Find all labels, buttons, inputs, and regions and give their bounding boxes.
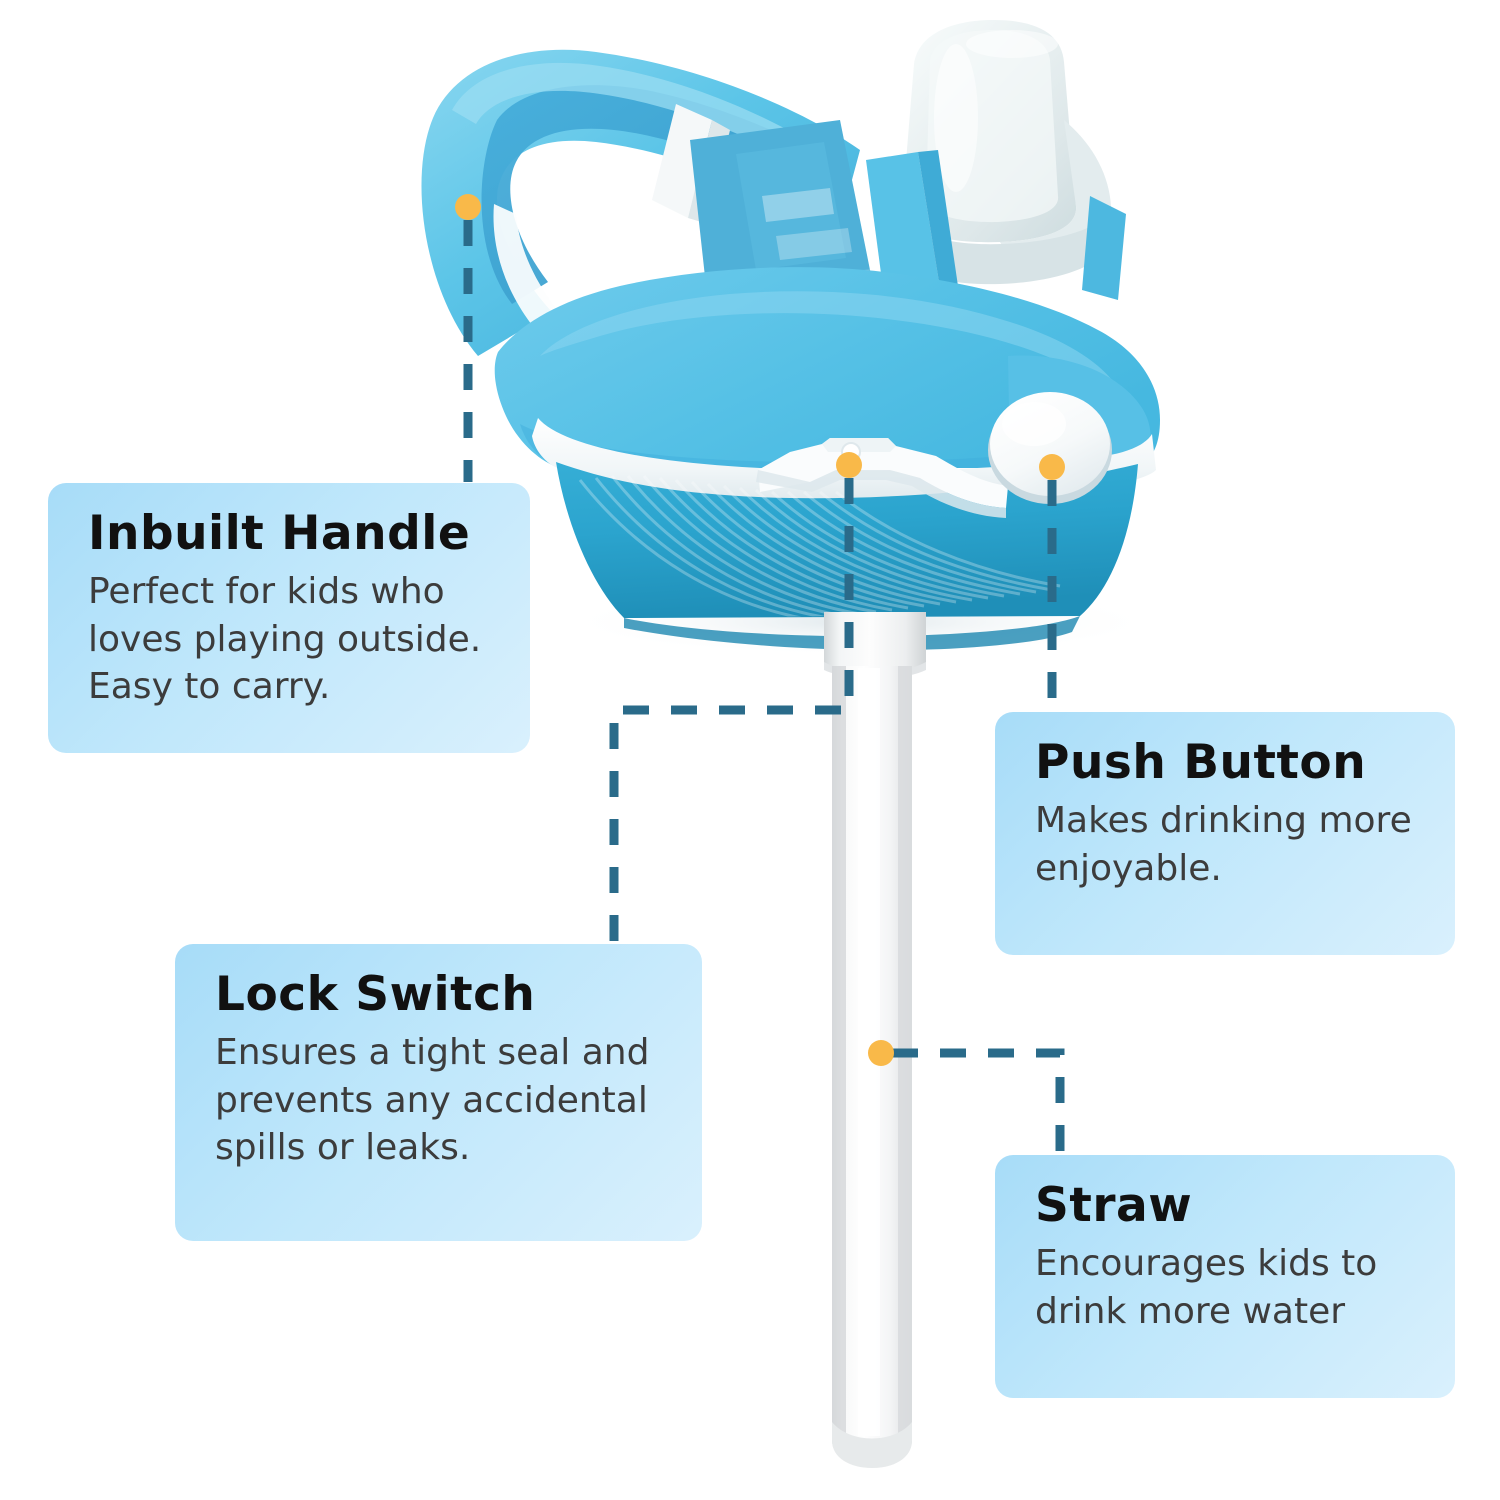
hotspot-dot-straw[interactable] [868,1040,894,1066]
callout-straw: Straw Encourages kids to drink more wate… [995,1155,1455,1398]
infographic-canvas: Inbuilt Handle Perfect for kids who love… [0,0,1500,1500]
callout-push-button: Push Button Makes drinking more enjoyabl… [995,712,1455,955]
callout-title-inbuilt-handle: Inbuilt Handle [88,509,500,558]
callout-inbuilt-handle: Inbuilt Handle Perfect for kids who love… [48,483,530,753]
hotspot-dot-inbuilt-handle[interactable] [455,194,481,220]
callout-title-push-button: Push Button [1035,738,1425,787]
callout-title-straw: Straw [1035,1181,1425,1230]
connector-straw [892,1053,1060,1156]
callout-body-straw: Encourages kids to drink more water [1035,1240,1425,1335]
connector-lock-switch [614,478,849,944]
callout-body-lock-switch: Ensures a tight seal and prevents any ac… [215,1029,672,1172]
callout-body-push-button: Makes drinking more enjoyable. [1035,797,1425,892]
callout-title-lock-switch: Lock Switch [215,970,672,1019]
hotspot-dot-lock-switch[interactable] [836,452,862,478]
callout-lock-switch: Lock Switch Ensures a tight seal and pre… [175,944,702,1241]
callout-body-inbuilt-handle: Perfect for kids who loves playing outsi… [88,568,500,711]
hotspot-dot-push-button[interactable] [1039,454,1065,480]
